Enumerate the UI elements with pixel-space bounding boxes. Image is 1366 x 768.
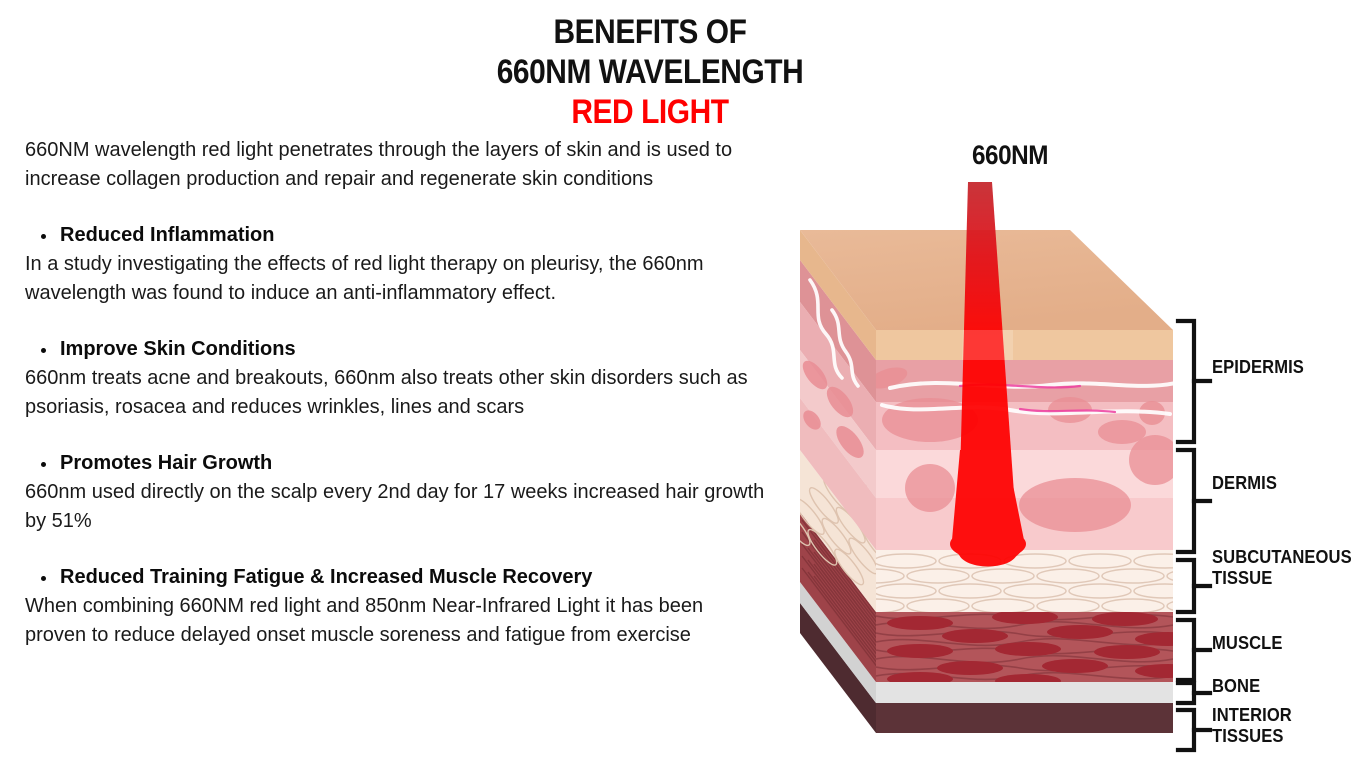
benefit-body: 660nm used directly on the scalp every 2… — [25, 478, 765, 536]
title-line-2: 660NM WAVELENGTH — [430, 52, 870, 92]
skin-cross-section-diagram — [770, 120, 1366, 768]
benefit-heading-text: Reduced Inflammation — [60, 224, 274, 246]
benefit-heading: Reduced Training Fatigue & Increased Mus… — [25, 564, 765, 591]
label-dermis: DERMIS — [1212, 473, 1277, 494]
benefits-copy-column: 660NM wavelength red light penetrates th… — [25, 136, 765, 650]
bullet-icon — [41, 576, 46, 581]
benefit-body: In a study investigating the effects of … — [25, 250, 765, 308]
benefit-item: Promotes Hair Growth 660nm used directly… — [25, 450, 765, 536]
title-line-1: BENEFITS OF — [430, 12, 870, 52]
layer-brackets — [1178, 321, 1210, 750]
benefit-heading-text: Reduced Training Fatigue & Increased Mus… — [60, 566, 592, 588]
bullet-icon — [41, 348, 46, 353]
label-interior-tissues: INTERIOR TISSUES — [1212, 705, 1354, 747]
benefit-heading: Improve Skin Conditions — [25, 336, 765, 363]
beam-wavelength-label: 660NM — [938, 140, 1082, 171]
page-title: BENEFITS OF 660NM WAVELENGTH RED LIGHT — [400, 12, 900, 132]
benefit-item: Improve Skin Conditions 660nm treats acn… — [25, 336, 765, 422]
label-bone: BONE — [1212, 676, 1260, 697]
muscle-fibre-texture — [876, 610, 1201, 688]
label-muscle: MUSCLE — [1212, 633, 1282, 654]
benefit-body: When combining 660NM red light and 850nm… — [25, 592, 765, 650]
benefit-item: Reduced Inflammation In a study investig… — [25, 222, 765, 308]
benefit-heading: Promotes Hair Growth — [25, 450, 765, 477]
bullet-icon — [41, 462, 46, 467]
infographic-canvas: BENEFITS OF 660NM WAVELENGTH RED LIGHT 6… — [0, 0, 1366, 768]
benefit-heading: Reduced Inflammation — [25, 222, 765, 249]
bullet-icon — [41, 234, 46, 239]
label-subcutaneous-tissue: SUBCUTANEOUS TISSUE — [1212, 547, 1352, 589]
benefit-body: 660nm treats acne and breakouts, 660nm a… — [25, 364, 765, 422]
benefit-item: Reduced Training Fatigue & Increased Mus… — [25, 564, 765, 650]
label-epidermis: EPIDERMIS — [1212, 357, 1304, 378]
benefit-heading-text: Improve Skin Conditions — [60, 338, 296, 360]
benefit-heading-text: Promotes Hair Growth — [60, 452, 272, 474]
intro-paragraph: 660NM wavelength red light penetrates th… — [25, 136, 765, 194]
